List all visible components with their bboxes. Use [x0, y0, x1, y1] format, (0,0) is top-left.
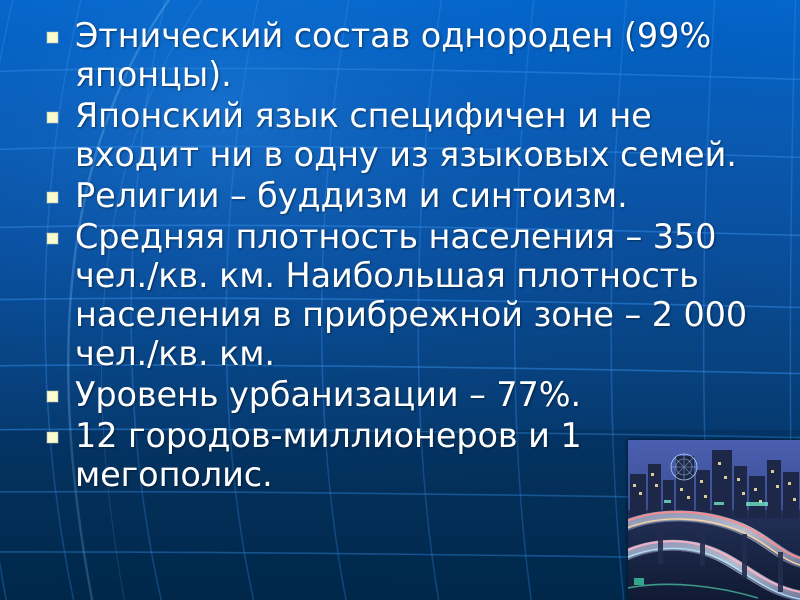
- square-bullet-icon: [47, 192, 58, 203]
- square-bullet-icon: [47, 391, 58, 402]
- bullet-text-6: 12 городов-миллионеров и 1 мегополис.: [75, 416, 582, 494]
- bullet-item-5: Уровень урбанизации – 77%.: [0, 375, 800, 414]
- square-bullet-icon: [47, 32, 58, 43]
- square-bullet-icon: [47, 432, 58, 443]
- bullet-item-3: Религии – буддизм и синтоизм.: [0, 176, 800, 215]
- bullet-item-1: Этнический состав однороден (99% японцы)…: [0, 16, 800, 94]
- bullet-text-3: Религии – буддизм и синтоизм.: [75, 176, 628, 215]
- bullet-text-4: Средняя плотность населения – 350 чел./к…: [75, 217, 747, 373]
- bullet-list: Этнический состав однороден (99% японцы)…: [0, 16, 800, 494]
- square-bullet-icon: [47, 112, 58, 123]
- bullet-item-2: Японский язык специфичен и не входит ни …: [0, 96, 800, 174]
- bullet-text-5: Уровень урбанизации – 77%.: [75, 375, 581, 414]
- square-bullet-icon: [47, 233, 58, 244]
- bullet-item-4: Средняя плотность населения – 350 чел./к…: [0, 217, 800, 373]
- bullet-text-1: Этнический состав однороден (99% японцы)…: [75, 16, 711, 94]
- slide-body: Этнический состав однороден (99% японцы)…: [0, 16, 800, 496]
- bullet-text-2: Японский язык специфичен и не входит ни …: [75, 96, 737, 174]
- tokyo-night-highway-interchange-photo: [628, 440, 800, 600]
- presentation-slide: Этнический состав однороден (99% японцы)…: [0, 0, 800, 600]
